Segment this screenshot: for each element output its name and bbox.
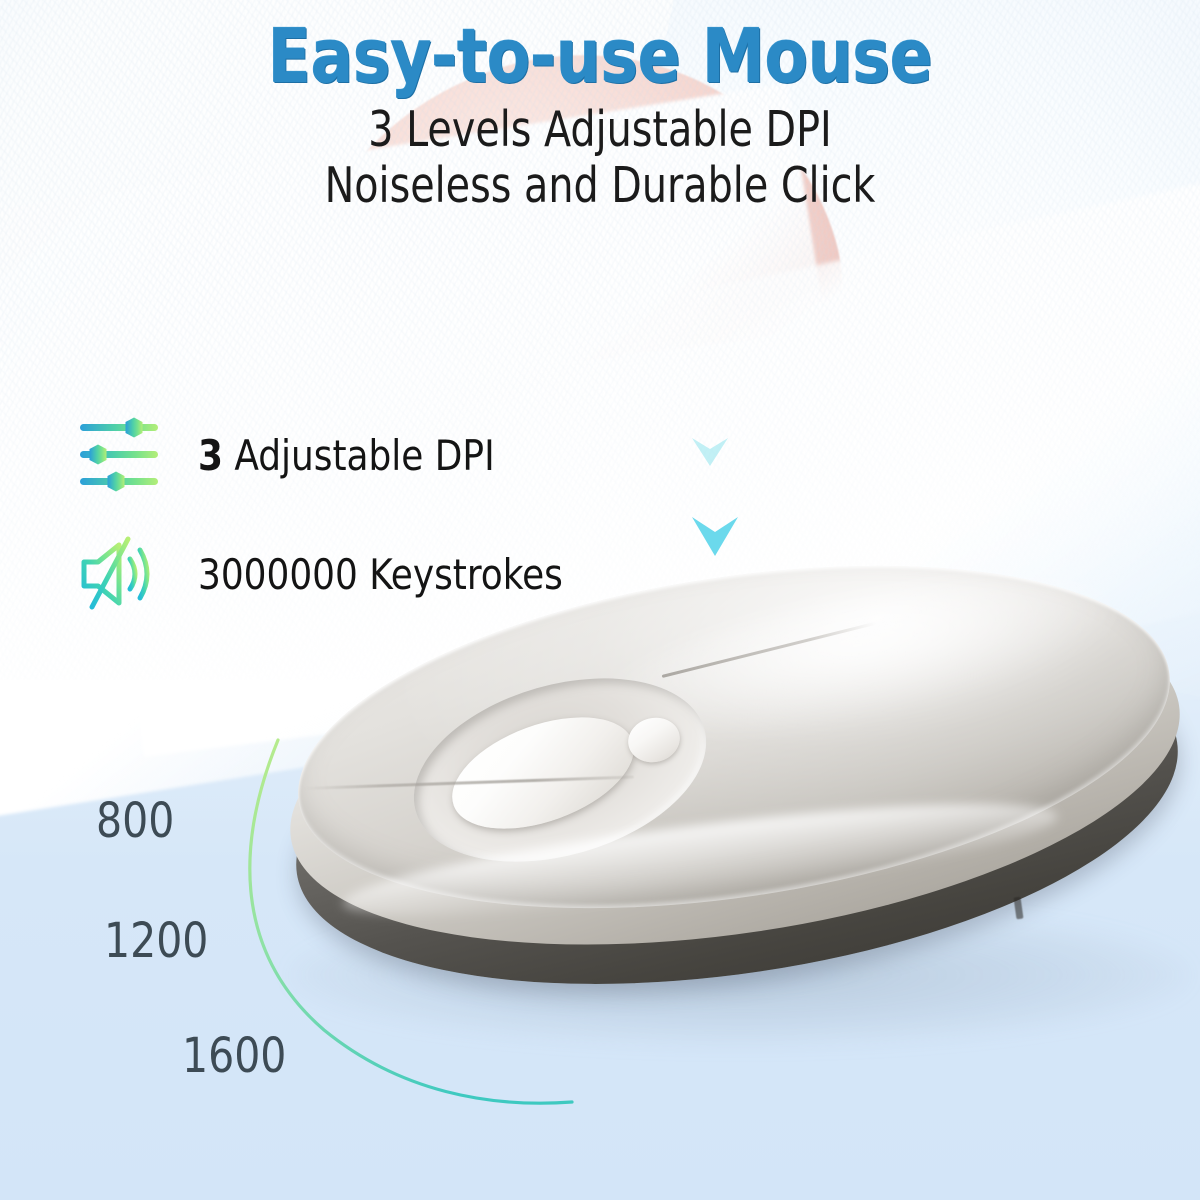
- feature-label-dpi: 3 Adjustable DPI: [198, 431, 495, 480]
- dpi-label-800: 800: [96, 793, 174, 849]
- feature-value-dpi: 3: [198, 431, 223, 480]
- chevron-down-icon-bottom: [688, 512, 742, 562]
- sliders-icon: [78, 414, 164, 496]
- chevron-down-icon-top: [688, 432, 732, 472]
- feature-text-dpi: Adjustable DPI: [223, 431, 495, 480]
- muted-speaker-icon: [78, 533, 164, 615]
- product-banner: Easy-to-use Mouse 3 Levels Adjustable DP…: [0, 0, 1200, 1200]
- mouse-port-notch: [1014, 897, 1024, 920]
- dpi-label-1200: 1200: [104, 913, 208, 969]
- wireless-mouse-photo: [270, 575, 1200, 1045]
- feature-adjustable-dpi: 3 Adjustable DPI: [78, 414, 510, 496]
